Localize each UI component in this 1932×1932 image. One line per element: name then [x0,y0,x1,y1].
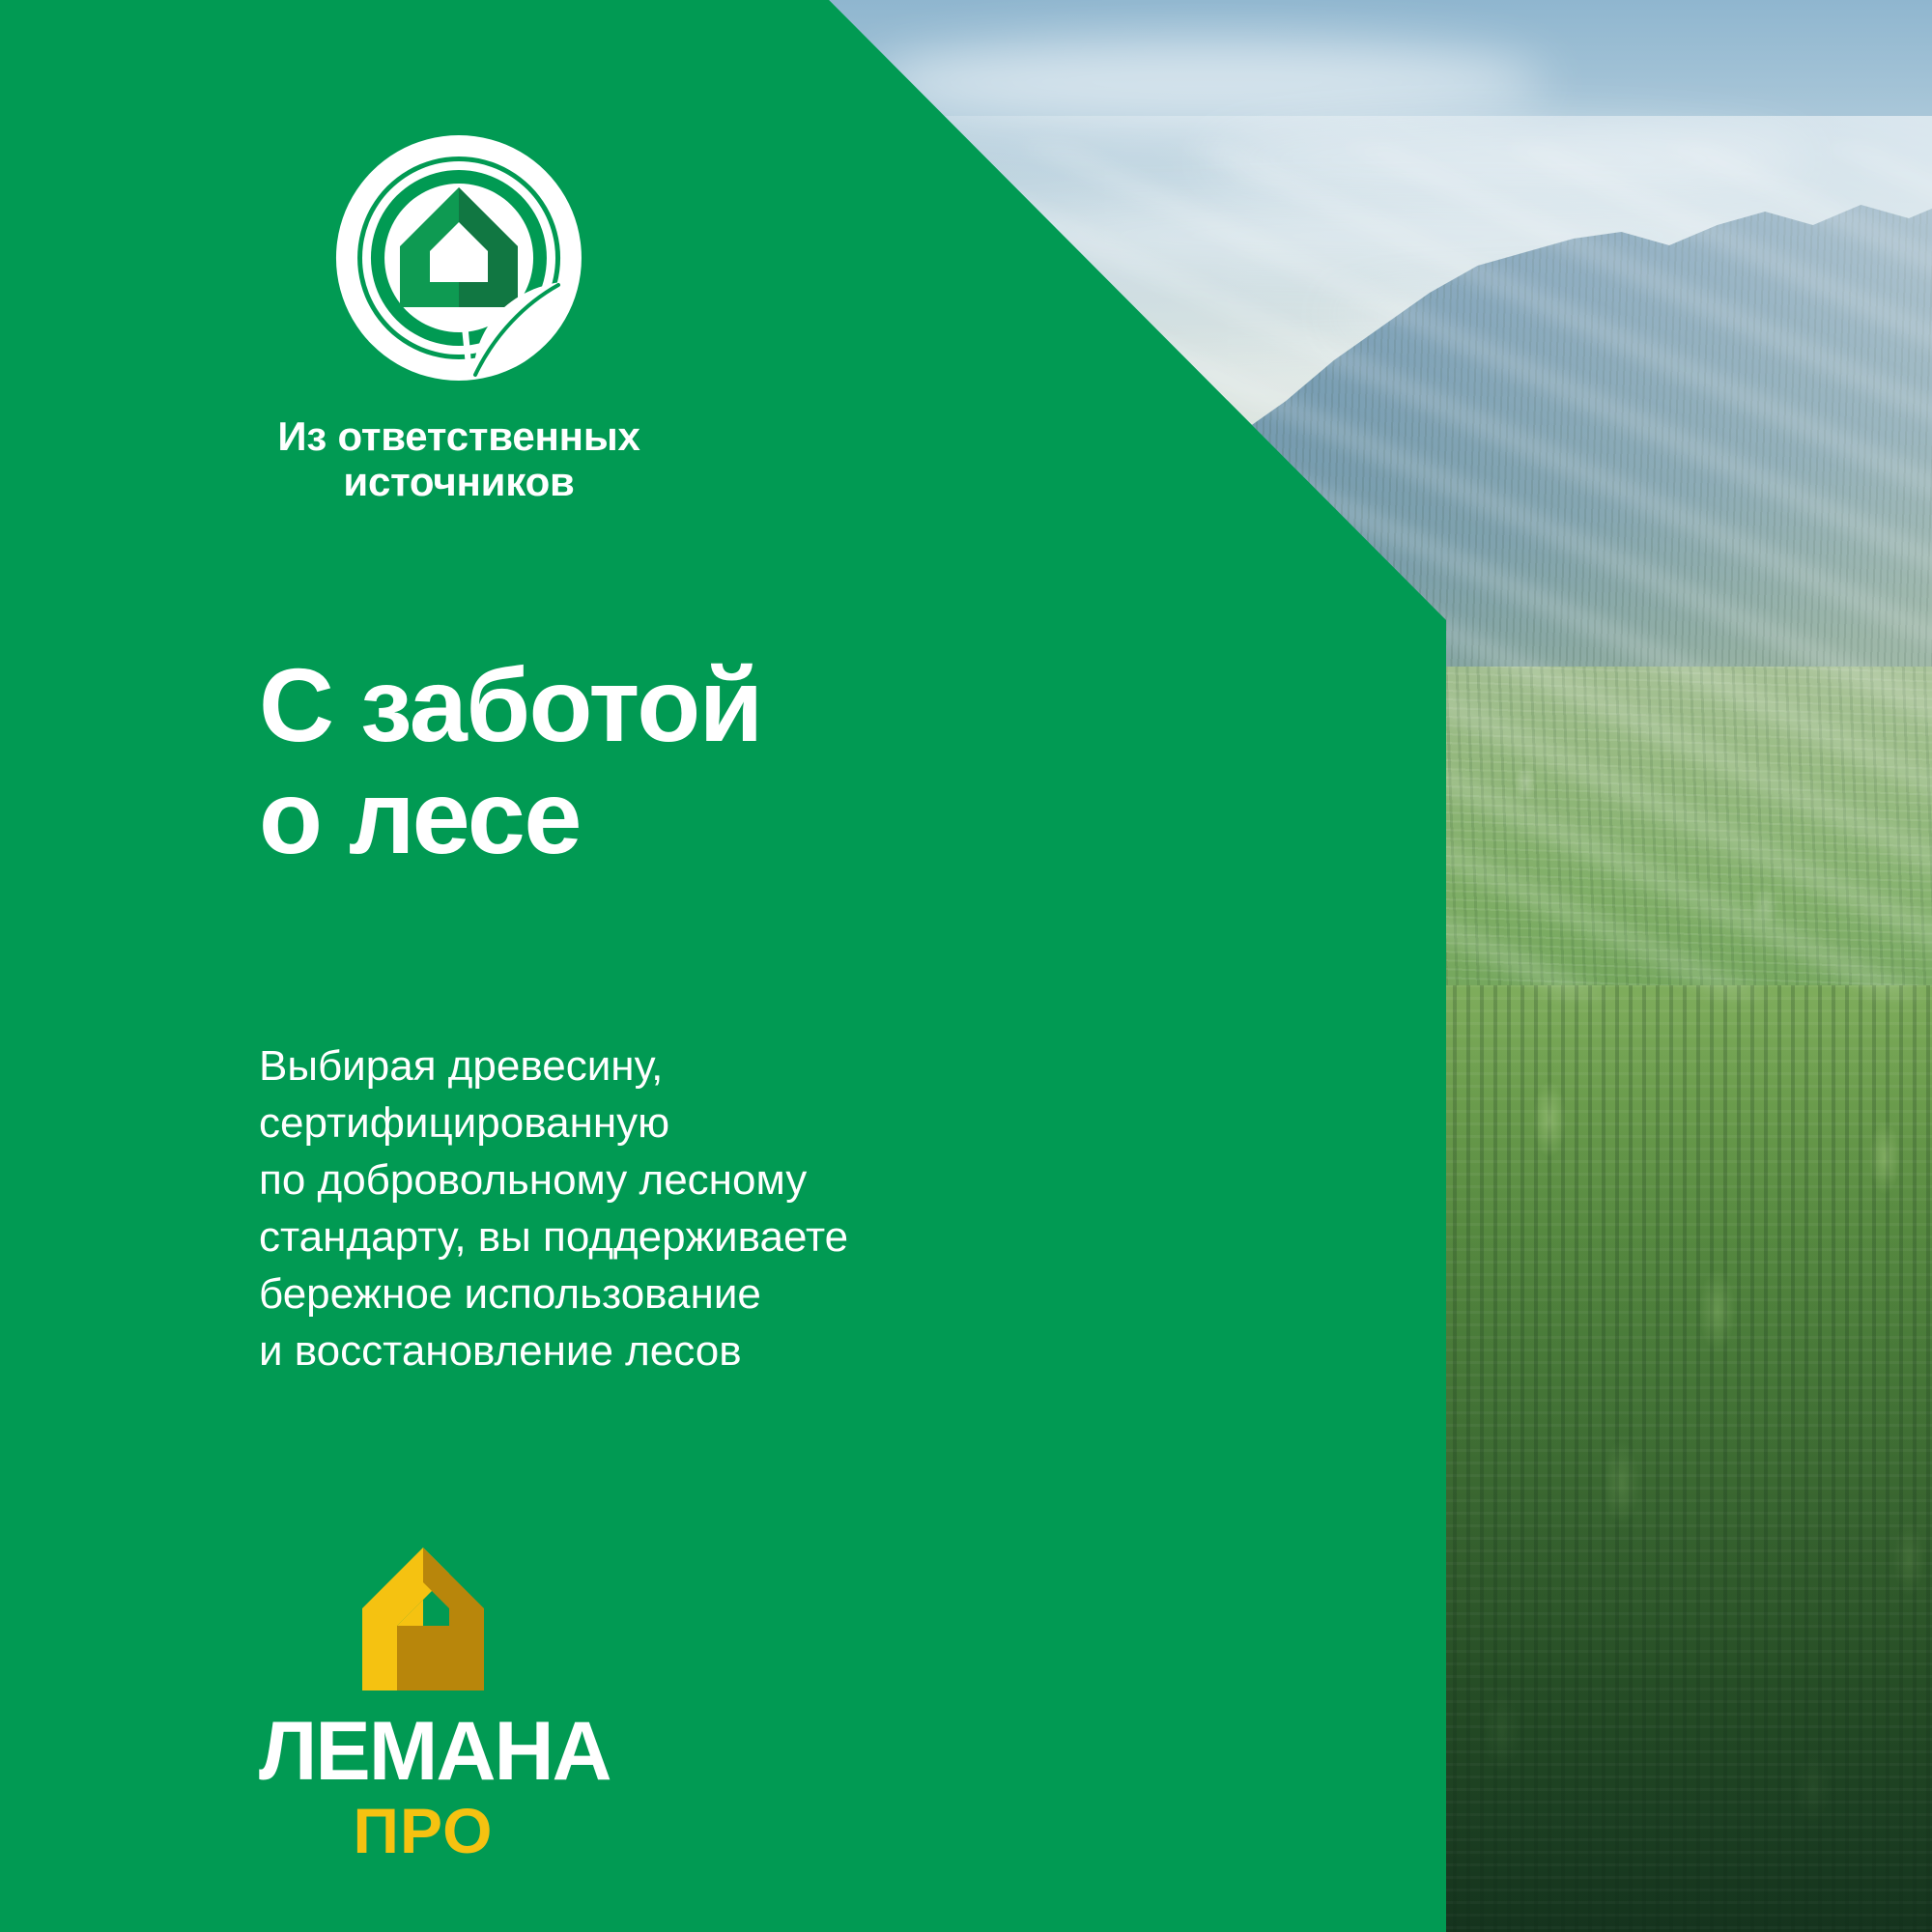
eco-badge-caption: Из ответственных источников [145,413,773,504]
house-leaf-circle-icon [328,128,589,388]
lemana-house-icon [351,1544,496,1698]
body-paragraph: Выбирая древесину, сертифицированную по … [259,1038,848,1380]
brand-name: ЛЕМАНА [259,1710,587,1793]
brand-lockup: ЛЕМАНА ПРО [259,1544,587,1862]
content-column: Из ответственных источников С заботой о … [0,0,1446,1932]
brand-suffix: ПРО [259,1799,587,1862]
poster-canvas: Из ответственных источников С заботой о … [0,0,1932,1932]
eco-badge [328,128,589,388]
page-title: С заботой о лесе [259,649,762,872]
eco-caption-line-2: источников [145,459,773,504]
eco-caption-line-1: Из ответственных [145,413,773,459]
